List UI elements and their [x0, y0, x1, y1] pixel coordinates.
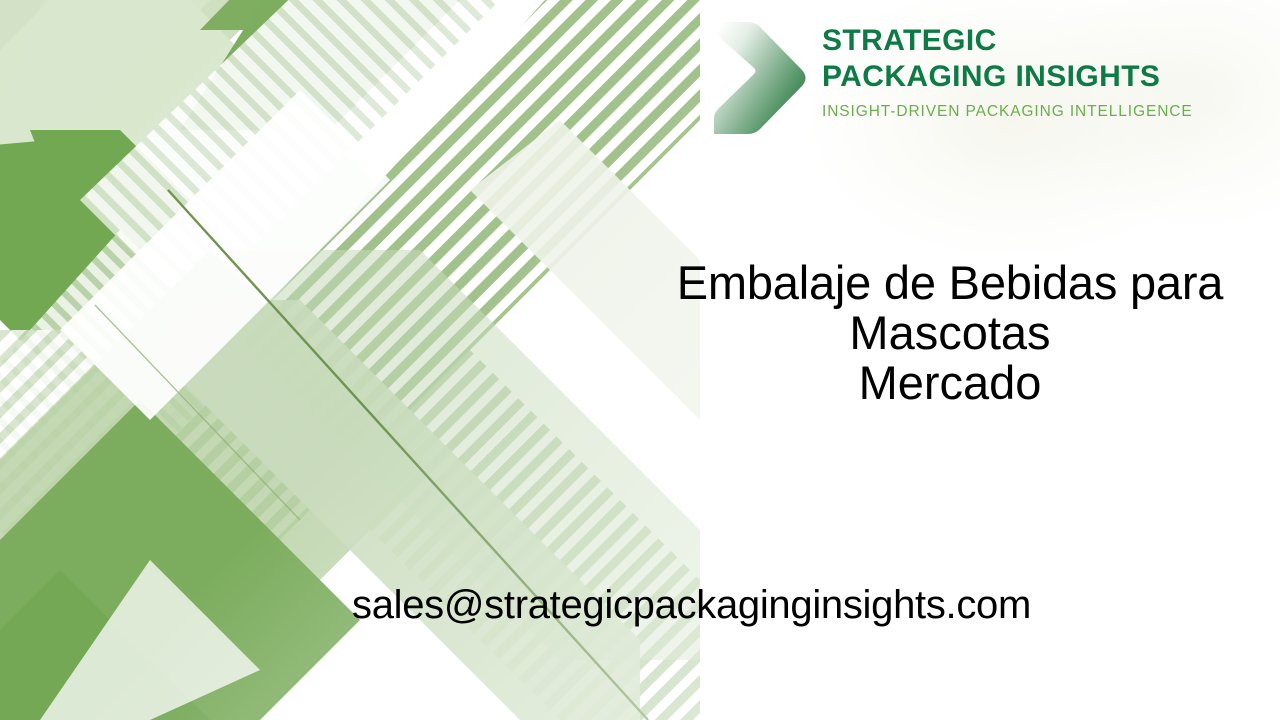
title-slide: STRATEGIC PACKAGING INSIGHTS INSIGHT-DRI…: [0, 0, 1280, 720]
title-line-3: Mercado: [620, 358, 1280, 408]
contact-email[interactable]: sales@strategicpackaginginsights.com: [352, 580, 1031, 630]
company-logo: STRATEGIC PACKAGING INSIGHTS INSIGHT-DRI…: [708, 14, 1228, 144]
logo-line-strategic: STRATEGIC: [822, 26, 1193, 56]
chevron-arrow-mark-icon: [708, 14, 812, 142]
title-line-1: Embalaje de Bebidas para: [620, 258, 1280, 308]
logo-tagline: INSIGHT-DRIVEN PACKAGING INTELLIGENCE: [822, 103, 1193, 121]
logo-line-packaging-insights: PACKAGING INSIGHTS: [822, 62, 1193, 92]
title-line-2: Mascotas: [620, 308, 1280, 358]
slide-title: Embalaje de Bebidas para Mascotas Mercad…: [620, 258, 1280, 408]
logo-wordmark: STRATEGIC PACKAGING INSIGHTS INSIGHT-DRI…: [822, 14, 1193, 121]
